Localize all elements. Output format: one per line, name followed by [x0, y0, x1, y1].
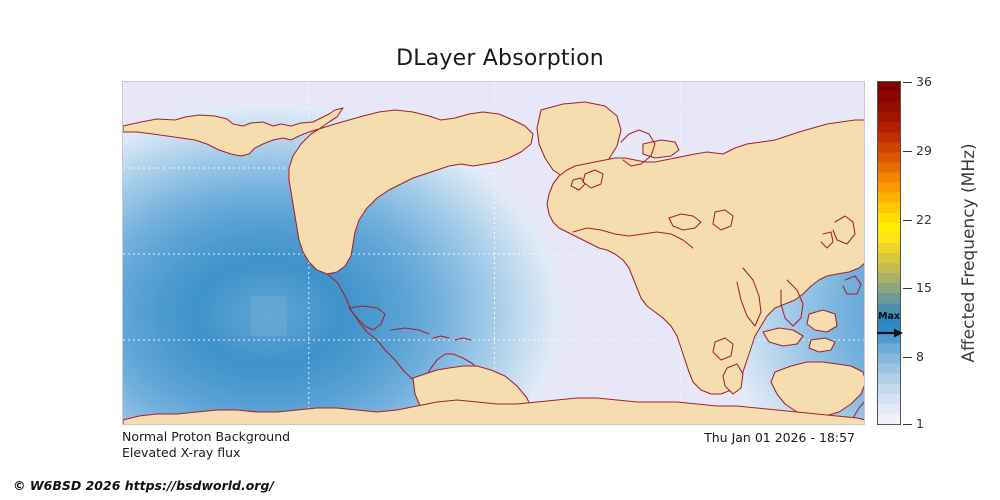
status-xray-flux: Elevated X-ray flux — [122, 445, 290, 461]
colorbar-tick-1 — [903, 424, 912, 425]
world-map-svg — [123, 82, 865, 425]
colorbar-tick-8 — [903, 357, 912, 358]
colorbar-tick-36 — [903, 82, 912, 83]
colorbar-axis-label: Affected Frequency (MHz) — [957, 81, 981, 425]
colorbar-tick-label-36: 36 — [916, 76, 932, 89]
colorbar-tick-label-29: 29 — [916, 145, 932, 158]
colorbar-tick-label-1: 1 — [916, 418, 924, 431]
colorbar-tick-label-8: 8 — [916, 351, 924, 364]
colorbar-tick-label-15: 15 — [916, 282, 932, 295]
colorbar-tick-label-22: 22 — [916, 213, 932, 226]
colorbar[interactable]: 36 29 22 15 8 1 Max — [877, 81, 901, 425]
colorbar-tick-29 — [903, 151, 912, 152]
copyright-notice: © W6BSD 2026 https://bsdworld.org/ — [13, 478, 274, 493]
timestamp: Thu Jan 01 2026 - 18:57 — [0, 430, 865, 445]
page-title: DLayer Absorption — [0, 46, 1000, 71]
colorbar-gradient — [877, 81, 901, 425]
world-map-panel[interactable] — [122, 81, 865, 425]
colorbar-tick-15 — [903, 288, 912, 289]
colorbar-tick-22 — [903, 220, 912, 221]
